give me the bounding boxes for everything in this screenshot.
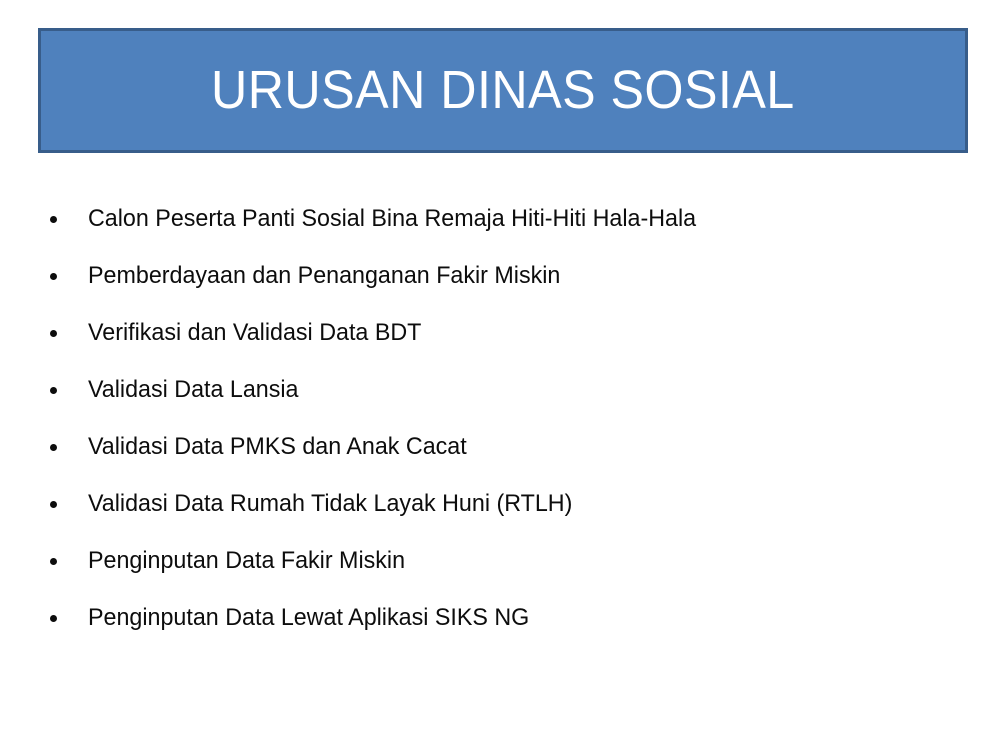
list-item: Validasi Data Rumah Tidak Layak Huni (RT… xyxy=(45,475,975,532)
list-item: Verifikasi dan Validasi Data BDT xyxy=(45,304,975,361)
list-item: Pemberdayaan dan Penanganan Fakir Miskin xyxy=(45,247,975,304)
list-item: Validasi Data Lansia xyxy=(45,361,975,418)
list-item: Penginputan Data Lewat Aplikasi SIKS NG xyxy=(45,589,975,646)
list-item-label: Validasi Data Lansia xyxy=(88,376,299,404)
bullet-point-icon xyxy=(50,444,57,451)
presentation-slide: URUSAN DINAS SOSIAL Calon Peserta Panti … xyxy=(0,0,1005,751)
slide-title: URUSAN DINAS SOSIAL xyxy=(211,62,795,119)
list-item-label: Validasi Data Rumah Tidak Layak Huni (RT… xyxy=(88,490,572,518)
list-item-label: Validasi Data PMKS dan Anak Cacat xyxy=(88,433,467,461)
bullet-point-icon xyxy=(50,330,57,337)
list-item: Penginputan Data Fakir Miskin xyxy=(45,532,975,589)
list-item-label: Calon Peserta Panti Sosial Bina Remaja H… xyxy=(88,205,696,233)
list-item: Calon Peserta Panti Sosial Bina Remaja H… xyxy=(45,190,975,247)
bullet-point-icon xyxy=(50,615,57,622)
bullet-point-icon xyxy=(50,387,57,394)
list-item-label: Verifikasi dan Validasi Data BDT xyxy=(88,319,421,347)
list-item-label: Pemberdayaan dan Penanganan Fakir Miskin xyxy=(88,262,560,290)
bullet-point-icon xyxy=(50,273,57,280)
bullet-point-icon xyxy=(50,558,57,565)
bullet-point-icon xyxy=(50,501,57,508)
list-item-label: Penginputan Data Lewat Aplikasi SIKS NG xyxy=(88,604,529,632)
bullet-point-icon xyxy=(50,216,57,223)
list-item: Validasi Data PMKS dan Anak Cacat xyxy=(45,418,975,475)
list-item-label: Penginputan Data Fakir Miskin xyxy=(88,547,405,575)
bullet-list: Calon Peserta Panti Sosial Bina Remaja H… xyxy=(45,190,975,646)
slide-title-banner: URUSAN DINAS SOSIAL xyxy=(38,28,968,153)
